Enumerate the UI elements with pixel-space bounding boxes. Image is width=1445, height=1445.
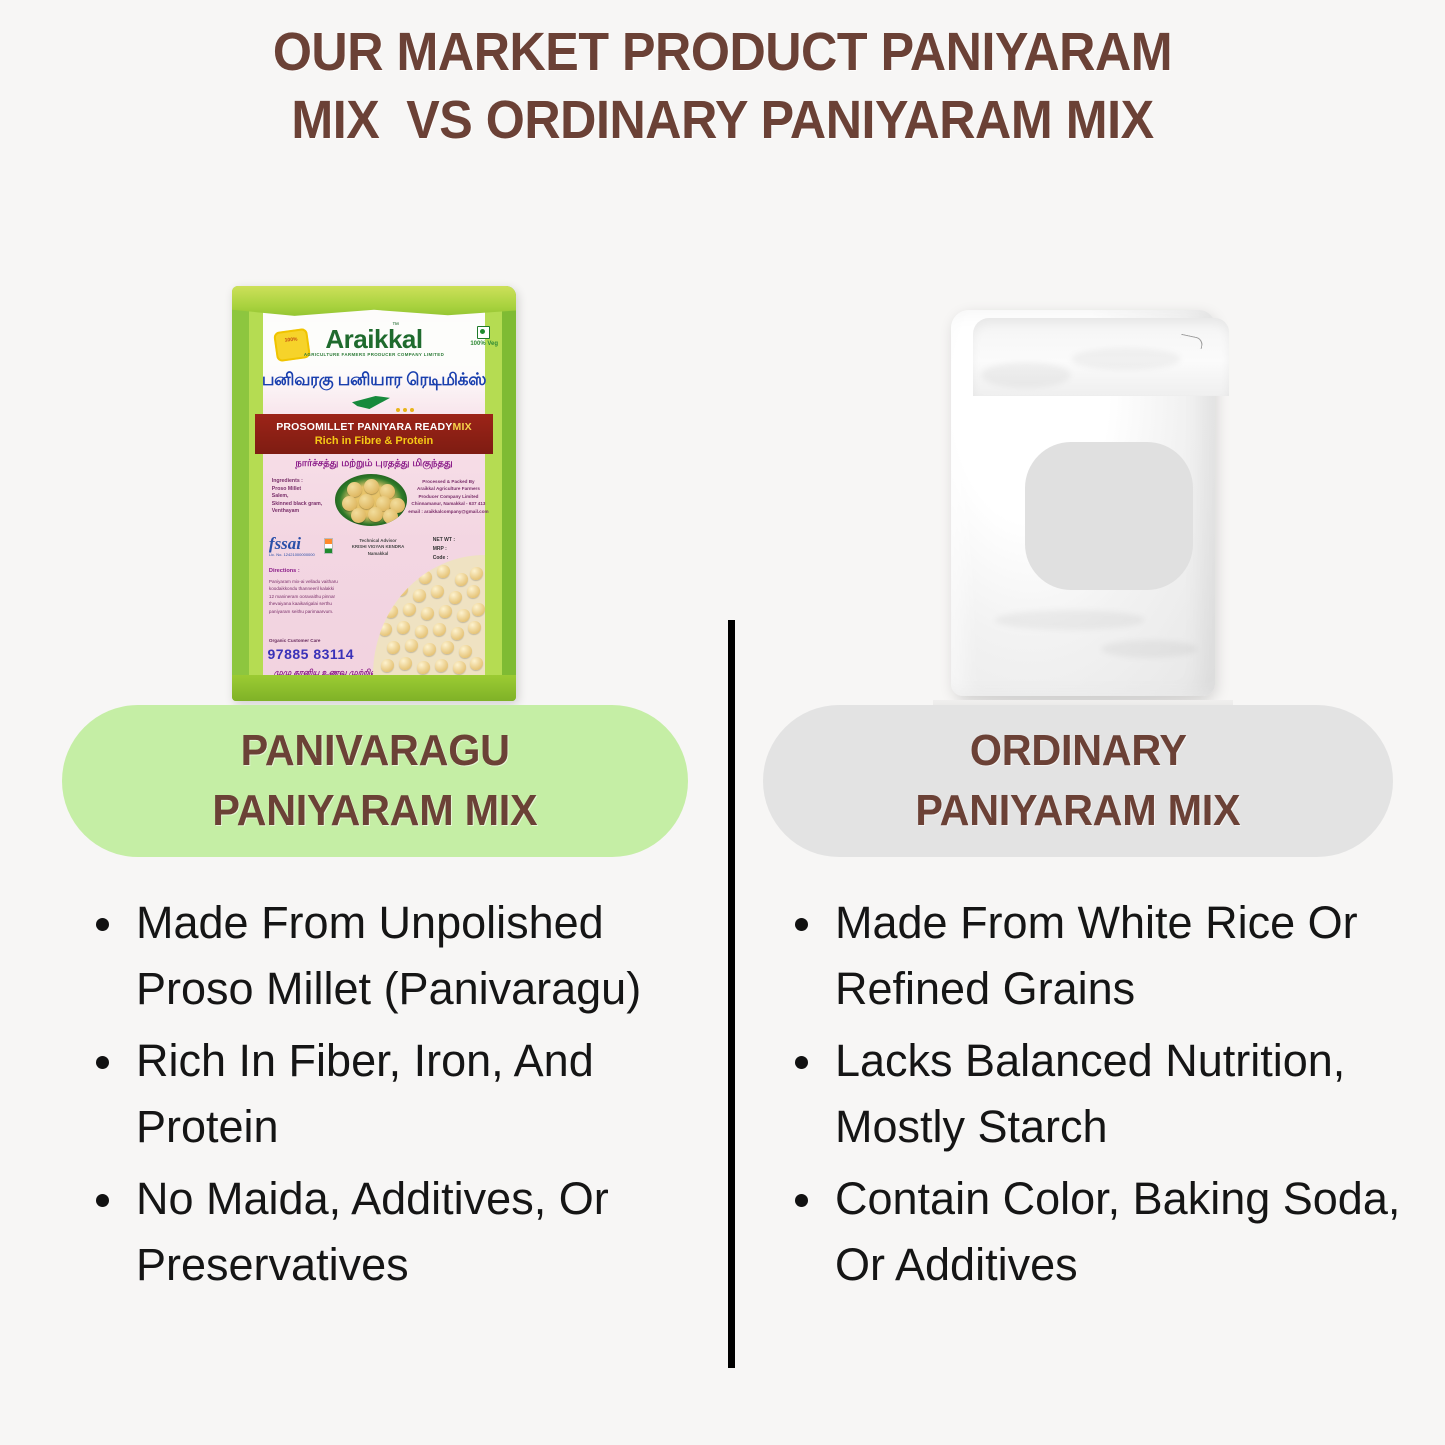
comparison-column-right: ORDINARY PANIYARAM MIX Made From White R… [723, 0, 1445, 1445]
bullet-list-right: Made From White Rice Or Refined Grains L… [783, 890, 1435, 1304]
label-pill-right: ORDINARY PANIYARAM MIX [763, 705, 1393, 857]
pouch-care-line-label: Organic Customer Care [269, 638, 321, 643]
label-pill-left: PANIVARAGU PANIYARAM MIX [62, 705, 688, 857]
product-image-stage-left: 100% Araikkal ™ AGRICULTURE FARMERS PROD… [0, 282, 722, 707]
banner-claim: Rich in Fibre & Protein [315, 435, 434, 447]
sack-crease [995, 610, 1145, 630]
fssai-license-text: Lic. No. 12421000000000 [269, 552, 315, 557]
bullet-list-left: Made From Unpolished Proso Millet (Paniv… [84, 890, 696, 1304]
sack-crease [981, 362, 1071, 388]
label-pill-left-line2: PANIYARAM MIX [213, 781, 538, 841]
pouch-ingredients-text: Ingredients : Proso Millet Salem, Skinne… [272, 478, 330, 516]
veg-mark-label: 100% Veg [470, 341, 498, 347]
araikkal-pouch-image: 100% Araikkal ™ AGRICULTURE FARMERS PROD… [232, 286, 516, 701]
trademark-icon: ™ [392, 322, 399, 329]
sack-body [951, 310, 1215, 696]
pouch-body: 100% Araikkal ™ AGRICULTURE FARMERS PROD… [232, 286, 516, 701]
list-item: Lacks Balanced Nutrition, Mostly Starch [783, 1028, 1435, 1160]
pouch-directions-heading: Directions : [269, 568, 300, 574]
sack-crease [1071, 348, 1181, 370]
sack-blank-label [1025, 442, 1193, 590]
brand-tagline: AGRICULTURE FARMERS PRODUCER COMPANY LIM… [232, 352, 516, 357]
product-image-stage-right [723, 282, 1445, 707]
list-item: Contain Color, Baking Soda, Or Additives [783, 1166, 1435, 1298]
list-item: Rich In Fiber, Iron, And Protein [84, 1028, 696, 1160]
kvk-advisor-text: Technical AdvisorKRISHI VIGYAN KENDRA Na… [332, 538, 424, 557]
millet-grains-photo [373, 555, 485, 675]
list-item: Made From Unpolished Proso Millet (Paniv… [84, 890, 696, 1022]
pouch-phone-number: 97885 83114 [268, 646, 354, 662]
label-pill-left-line1: PANIVARAGU [240, 721, 509, 781]
veg-mark-icon [477, 326, 490, 339]
sack-crease [1101, 640, 1197, 658]
brand-name: Araikkal [232, 324, 516, 355]
label-pill-right-line2: PANIYARAM MIX [916, 781, 1241, 841]
pouch-red-banner: PROSOMILLET PANIYARA READYMIX Rich in Fi… [255, 414, 494, 454]
fssai-logo-icon: fssai [269, 534, 301, 554]
ordinary-white-sack-image [933, 294, 1233, 702]
paniyaram-bowl-photo [335, 474, 407, 526]
pouch-tamil-claim: நார்ச்சத்து மற்றும் புரதத்து மிகுந்தது [232, 458, 516, 470]
pouch-tamil-title: பனிவரகு பனியார ரெடிமிக்ஸ் [232, 370, 516, 392]
comparison-column-left: 100% Araikkal ™ AGRICULTURE FARMERS PROD… [0, 0, 722, 1445]
pouch-bottom-seal [232, 675, 516, 701]
list-item: Made From White Rice Or Refined Grains [783, 890, 1435, 1022]
pouch-packed-by-text: Processed & Packed By Araikkal Agricultu… [406, 478, 490, 515]
banner-product-name: PROSOMILLET PANIYARA READYMIX [276, 421, 472, 433]
list-item: No Maida, Additives, Or Preservatives [84, 1166, 696, 1298]
pouch-directions-text: Paniyaram mix-ai velladu vaitharu koodai… [269, 578, 339, 615]
label-pill-right-line1: ORDINARY [970, 721, 1187, 781]
